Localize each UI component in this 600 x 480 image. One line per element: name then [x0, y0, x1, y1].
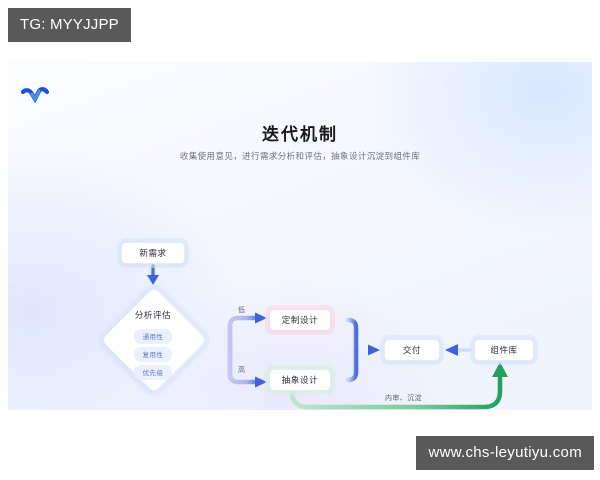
edge-label-review: 内审、沉淀 [385, 393, 422, 403]
diagram-card: 迭代机制 收集使用意见，进行需求分析和评估，抽象设计沉淀到组件库 [8, 62, 592, 410]
criteria-pill-generality[interactable]: 通用性 [134, 329, 173, 344]
arrowhead-to-delivery [368, 345, 380, 356]
arrowhead-to-abstract [255, 377, 267, 388]
page-subtitle: 收集使用意见，进行需求分析和评估，抽象设计沉淀到组件库 [8, 150, 592, 162]
arrowhead-to-library-up [492, 362, 508, 377]
brand-logo-icon [20, 86, 52, 106]
site-watermark: www.chs-leyutiyu.com [416, 436, 594, 470]
edge-library-to-delivery [445, 344, 470, 356]
edge-merge-to-delivery [348, 320, 372, 380]
criteria-pill-reusability[interactable]: 复用性 [134, 347, 173, 362]
node-component-library[interactable]: 组件库 [474, 339, 534, 361]
node-analysis-evaluation[interactable]: 分析评估 通用性 复用性 优先级 [101, 287, 205, 391]
arrowhead-to-custom [255, 313, 267, 324]
tg-badge: TG: MYYJJPP [8, 8, 131, 42]
node-delivery[interactable]: 交付 [384, 339, 440, 361]
edge-new-req-to-analysis [147, 266, 159, 285]
edge-label-low: 低 [238, 305, 245, 315]
node-new-requirement[interactable]: 新需求 [121, 242, 185, 264]
node-abstract-design[interactable]: 抽象设计 [269, 369, 331, 391]
diamond-content: 分析评估 通用性 复用性 优先级 [101, 287, 205, 391]
node-custom-design[interactable]: 定制设计 [269, 309, 331, 331]
criteria-pill-priority[interactable]: 优先级 [134, 365, 173, 380]
edge-label-high: 高 [238, 365, 245, 375]
diamond-title: 分析评估 [135, 309, 171, 321]
page-title: 迭代机制 [8, 120, 592, 145]
